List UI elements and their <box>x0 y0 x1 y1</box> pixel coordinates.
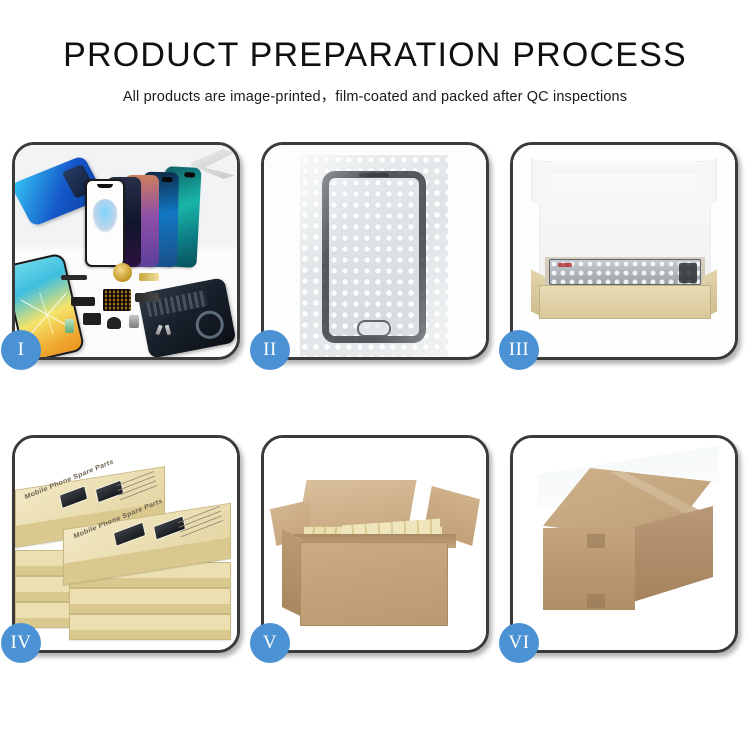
box-front-wall-icon <box>539 285 711 319</box>
phone-white-icon <box>85 179 125 267</box>
step-badge-4: IV <box>1 623 41 663</box>
step-badge-3: III <box>499 330 539 370</box>
component-7-icon <box>129 315 139 328</box>
step-badge-1: I <box>1 330 41 370</box>
step-image-2 <box>264 145 486 357</box>
carton-front-icon <box>300 542 448 626</box>
box-lid-right-flap-icon <box>695 158 717 208</box>
stacked-boxes-illustration: Mobile Phone Spare Parts Mobile Phone Sp… <box>15 438 237 650</box>
step-badge-6: VI <box>499 623 539 663</box>
step-card-1[interactable]: I <box>12 142 240 360</box>
flex-cable-1-icon <box>61 275 87 280</box>
page-subtitle: All products are image-printed，film-coat… <box>0 85 750 106</box>
speaker-icon <box>107 317 121 329</box>
step-card-3[interactable]: III <box>510 142 738 360</box>
step-badge-5: V <box>250 623 290 663</box>
flex-cable-2-icon <box>139 273 159 281</box>
product-preparation-infographic: PRODUCT PREPARATION PROCESS All products… <box>0 0 750 750</box>
step-image-1 <box>15 145 237 357</box>
box-stack-group: Mobile Phone Spare Parts Mobile Phone Sp… <box>15 454 237 650</box>
phone-parts-illustration <box>15 145 237 357</box>
inner-box-illustration <box>513 145 735 357</box>
carton-left-side-icon <box>282 529 302 617</box>
copper-coil-icon <box>113 263 132 282</box>
step-badge-2: II <box>250 330 290 370</box>
box-lid-top-icon <box>553 157 697 173</box>
box-lid-left-flap-icon <box>531 158 553 208</box>
header: PRODUCT PREPARATION PROCESS All products… <box>0 38 750 106</box>
packed-screen-icon <box>549 259 701 285</box>
flex-cable-3-icon <box>71 297 95 306</box>
battery-icon <box>65 319 74 333</box>
stack-box-br-2 <box>69 588 231 614</box>
step-card-2[interactable]: II <box>261 142 489 360</box>
carton-handle-notch-bottom-icon <box>587 594 605 608</box>
open-carton-illustration <box>264 438 486 650</box>
box-spec-lines-2 <box>177 506 223 538</box>
step-card-4[interactable]: Mobile Phone Spare Parts Mobile Phone Sp… <box>12 435 240 653</box>
component-5-icon <box>83 313 101 325</box>
screws-icon <box>155 325 175 339</box>
bubble-film-background <box>300 155 448 357</box>
step-card-5[interactable]: V <box>261 435 489 653</box>
step-card-6[interactable]: VI <box>510 435 738 653</box>
page-title: PRODUCT PREPARATION PROCESS <box>0 38 750 74</box>
step-image-6 <box>513 438 735 650</box>
box-spec-lines-1 <box>117 470 158 501</box>
wrapped-screen-icon <box>322 171 426 343</box>
carton-handle-notch-top-icon <box>587 534 605 548</box>
step-image-5 <box>264 438 486 650</box>
sealed-carton-illustration <box>513 438 735 650</box>
steps-grid: I II <box>12 142 738 676</box>
step-image-3 <box>513 145 735 357</box>
bubble-wrap-illustration <box>264 145 486 357</box>
flex-cable-4-icon <box>135 293 159 302</box>
stack-box-br-3 <box>69 614 231 640</box>
step-image-4: Mobile Phone Spare Parts Mobile Phone Sp… <box>15 438 237 650</box>
connector-grid-icon <box>103 289 131 311</box>
small-components-group <box>63 267 185 341</box>
